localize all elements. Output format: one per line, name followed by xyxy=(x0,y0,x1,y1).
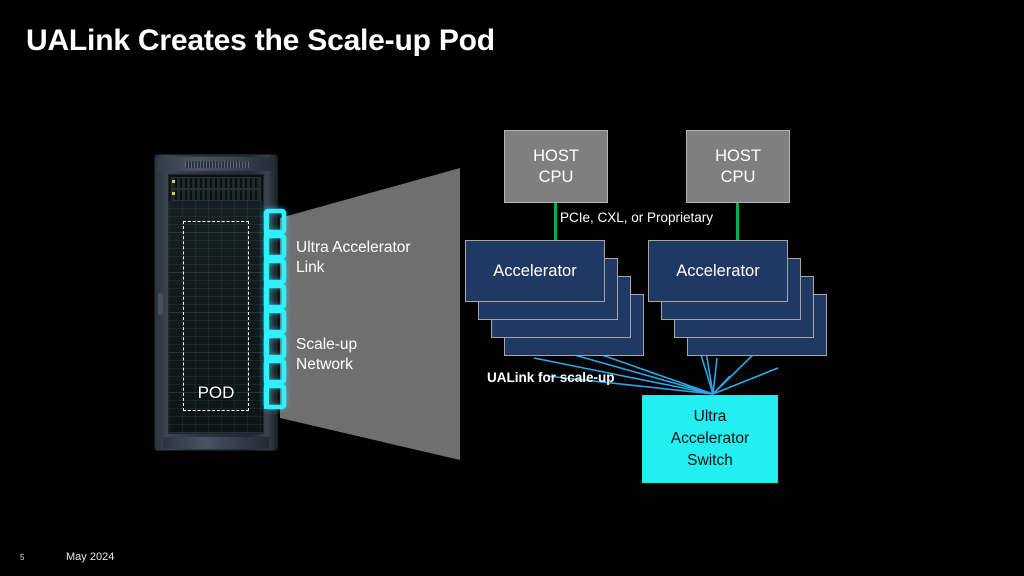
perspective-panel xyxy=(270,160,460,480)
host-link-line-1 xyxy=(554,203,557,243)
host-cpu-box-2: HOST CPU xyxy=(686,130,790,203)
ultra-accelerator-switch-box: Ultra Accelerator Switch xyxy=(642,395,778,483)
host-link-line-2 xyxy=(736,203,739,243)
rack-header-row xyxy=(171,189,261,201)
panel-label-scale-up-network: Scale-up Network xyxy=(296,335,357,375)
host-cpu-box-1: HOST CPU xyxy=(504,130,608,203)
page-title: UALink Creates the Scale-up Pod xyxy=(26,24,495,58)
cyan-ladder-connector-icon xyxy=(262,208,288,416)
rack-vent xyxy=(185,161,249,168)
rack-header-units xyxy=(169,175,263,202)
rack-top-panel xyxy=(157,157,275,171)
pod-label: POD xyxy=(169,383,263,403)
rack-base xyxy=(163,437,269,449)
status-led-icon xyxy=(172,180,175,183)
slide-date: May 2024 xyxy=(66,551,114,563)
server-rack-illustration: POD xyxy=(155,155,277,450)
status-led-icon xyxy=(172,192,175,195)
slide-canvas: UALink Creates the Scale-up Pod Ultra Ac… xyxy=(0,0,1024,576)
accelerator-card-front: Accelerator xyxy=(465,240,605,302)
host-link-label: PCIe, CXL, or Proprietary xyxy=(560,210,713,225)
panel-label-ultra-accelerator-link: Ultra Accelerator Link xyxy=(296,238,411,278)
accelerator-label: Accelerator xyxy=(676,262,759,281)
rack-header-row xyxy=(171,177,261,189)
accelerator-card-front: Accelerator xyxy=(648,240,788,302)
rack-side-handle xyxy=(158,293,163,315)
accelerator-label: Accelerator xyxy=(493,262,576,281)
slide-number: 5 xyxy=(20,553,24,562)
ualink-scaleup-label: UALink for scale-up xyxy=(487,370,615,385)
rack-interior: POD xyxy=(168,174,264,434)
accelerator-stack-1: Accelerator xyxy=(465,240,645,358)
accelerator-stack-2: Accelerator xyxy=(648,240,828,358)
